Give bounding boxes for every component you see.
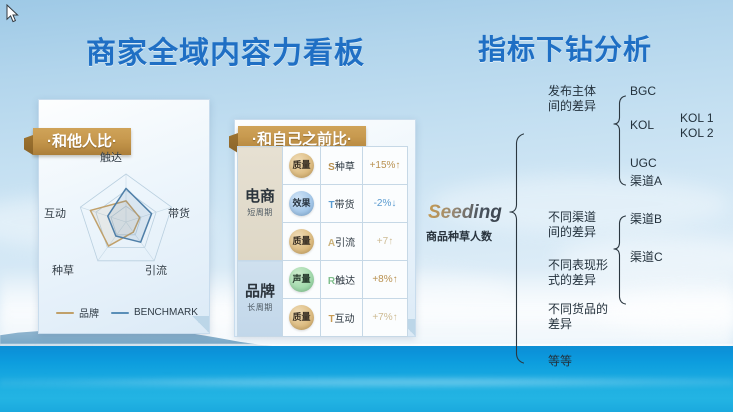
table-metric-cell: S种草 <box>321 147 363 185</box>
brace-channel-lower <box>614 249 626 304</box>
tree-node-etc[interactable]: 等等 <box>548 354 572 369</box>
table-badge-cell: 质量 <box>283 299 321 337</box>
table-delta-cell: +7%↑ <box>363 299 408 337</box>
brace-publisher-upper <box>614 96 626 124</box>
radar-chart <box>62 168 190 274</box>
radar-legend-item: BENCHMARK <box>111 307 198 318</box>
metric-letter: R <box>328 276 335 287</box>
delta-value: +15%↑ <box>370 160 401 171</box>
dimension-badge: 质量 <box>289 229 314 254</box>
tree-root-label-cn: 商品种草人数 <box>426 228 492 244</box>
delta-value: +7↑ <box>377 236 393 247</box>
table-delta-cell: -2%↓ <box>363 185 408 223</box>
compare-others-banner-label: ·和他人比· <box>47 133 117 150</box>
page-title-left: 商家全域内容力看板 <box>86 28 365 72</box>
table-row: 品牌长周期声量R触达+8%↑ <box>238 261 408 299</box>
table-metric-cell: R触达 <box>321 261 363 299</box>
dimension-badge: 声量 <box>289 267 314 292</box>
metric-letter: T <box>328 314 334 325</box>
mouse-cursor <box>6 4 19 23</box>
tree-leaf-bgc[interactable]: BGC <box>630 84 656 98</box>
tree-node-line2: 间的差异 <box>548 225 596 240</box>
tree-leaf-channel-2[interactable]: 渠道B <box>630 210 662 227</box>
tree-root-label-en: Seeding <box>428 202 502 224</box>
radar-legend-item: 品牌 <box>56 305 99 320</box>
brace-root-lower <box>510 212 524 363</box>
table-badge-cell: 效果 <box>283 185 321 223</box>
delta-value: +8%↑ <box>372 274 397 285</box>
tree-node-line2: 间的差异 <box>548 99 596 114</box>
table-group-cell: 电商短周期 <box>238 147 283 261</box>
table-delta-cell: +7↑ <box>363 223 408 261</box>
table-metric-cell: T带货 <box>321 185 363 223</box>
radar-series-BENCHMARK <box>108 188 152 242</box>
tree-leaf-ugc[interactable]: UGC <box>630 156 657 170</box>
radar-axis-label-right: 带货 <box>168 205 190 221</box>
metric-letter: A <box>328 238 335 249</box>
metric-label: S种草 <box>328 162 355 173</box>
tree-leaf-channel-1[interactable]: 渠道A <box>630 172 662 189</box>
legend-label: BENCHMARK <box>134 307 198 318</box>
table-group-subtitle: 短周期 <box>238 207 282 218</box>
radar-series-group <box>90 188 151 246</box>
tree-node-line1: 不同货品的 <box>548 302 608 317</box>
brace-publisher-lower <box>614 124 626 185</box>
table-metric-cell: T互动 <box>321 299 363 337</box>
table-badge-cell: 质量 <box>283 147 321 185</box>
tree-node-line1: 发布主体 <box>548 84 596 99</box>
table-badge-cell: 质量 <box>283 223 321 261</box>
table-metric-cell: A引流 <box>321 223 363 261</box>
table-delta-cell: +15%↑ <box>363 147 408 185</box>
tree-node-line1: 不同渠道 <box>548 210 596 225</box>
tree-node-channel[interactable]: 不同渠道间的差异 <box>548 210 596 240</box>
delta-value: +7%↑ <box>372 312 397 323</box>
tree-node-line1: 等等 <box>548 354 572 369</box>
tree-leaf-channel-3[interactable]: 渠道C <box>630 248 663 265</box>
table-row: 电商短周期质量S种草+15%↑ <box>238 147 408 185</box>
table-delta-cell: +8%↑ <box>363 261 408 299</box>
tree-leaf-kol-1[interactable]: KOL 1 <box>680 111 714 125</box>
legend-swatch <box>56 312 74 314</box>
metric-label: A引流 <box>328 238 355 249</box>
dimension-badge: 质量 <box>289 305 314 330</box>
table-group-subtitle: 长周期 <box>238 302 282 313</box>
brace-root-upper <box>510 134 524 212</box>
delta-value: -2%↓ <box>374 198 397 209</box>
drilldown-tree: Seeding 商品种草人数 发布主体间的差异不同渠道间的差异不同表现形式的差异… <box>418 62 728 380</box>
metric-label: R触达 <box>328 276 355 287</box>
radar-legend: 品牌BENCHMARK <box>56 305 206 320</box>
tree-node-publisher[interactable]: 发布主体间的差异 <box>548 84 596 114</box>
tree-node-line2: 式的差异 <box>548 273 608 288</box>
radar-axis-label-bottom-right: 引流 <box>145 262 167 278</box>
tree-node-format[interactable]: 不同表现形式的差异 <box>548 258 608 288</box>
tree-node-line1: 不同表现形 <box>548 258 608 273</box>
slide-canvas: 商家全域内容力看板 指标下钻分析 ·和他人比· 触达 带货 引流 种草 互动 品… <box>0 0 733 412</box>
radar-axis-label-bottom-left: 种草 <box>52 262 74 278</box>
legend-label: 品牌 <box>79 305 99 320</box>
brace-channel-upper <box>614 216 626 249</box>
tree-node-product[interactable]: 不同货品的差异 <box>548 302 608 332</box>
dimension-badge: 质量 <box>289 153 314 178</box>
radar-axis-label-top: 触达 <box>100 149 122 165</box>
radar-chart-svg <box>62 168 190 274</box>
compare-self-table-body: 电商短周期质量S种草+15%↑效果T带货-2%↓质量A引流+7↑品牌长周期声量R… <box>238 147 408 337</box>
table-group-name: 品牌 <box>238 284 282 301</box>
metric-label: T带货 <box>328 200 354 211</box>
table-group-name: 电商 <box>238 189 282 206</box>
dimension-badge: 效果 <box>289 191 314 216</box>
tree-leaf-kol[interactable]: KOL <box>630 118 654 132</box>
metric-letter: T <box>328 200 334 211</box>
table-group-cell: 品牌长周期 <box>238 261 283 337</box>
legend-swatch <box>111 312 129 314</box>
compare-self-table: 电商短周期质量S种草+15%↑效果T带货-2%↓质量A引流+7↑品牌长周期声量R… <box>237 146 408 337</box>
table-badge-cell: 声量 <box>283 261 321 299</box>
tree-node-line2: 差异 <box>548 317 608 332</box>
metric-letter: S <box>328 162 335 173</box>
tree-leaf-kol-2[interactable]: KOL 2 <box>680 126 714 140</box>
metric-label: T互动 <box>328 314 354 325</box>
radar-axis-label-left: 互动 <box>44 205 66 221</box>
